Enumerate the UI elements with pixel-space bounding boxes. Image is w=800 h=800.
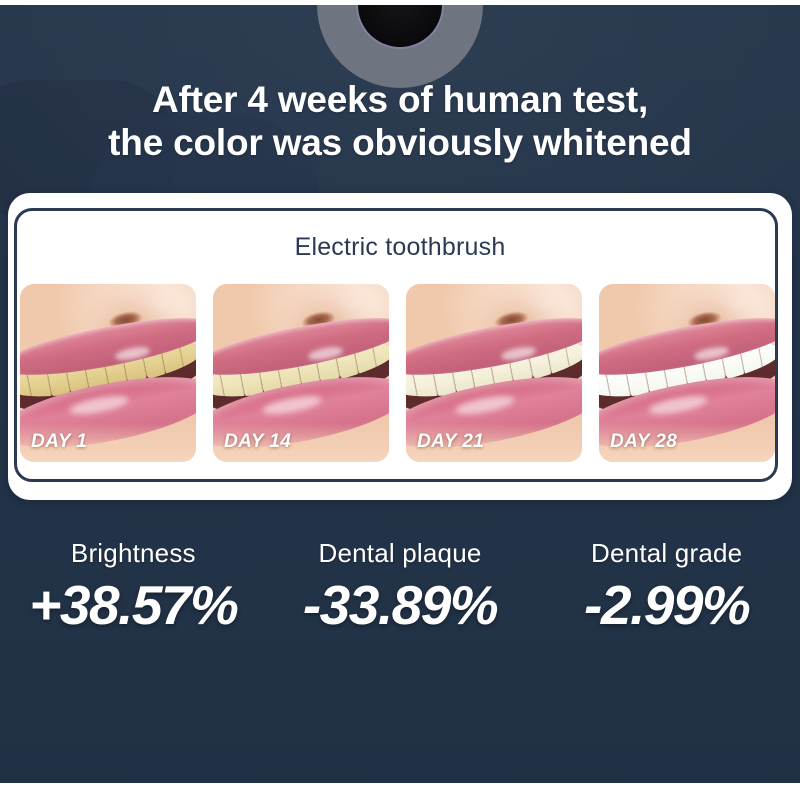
day-label: DAY 1 — [31, 431, 87, 453]
progress-photo-strip: DAY 1 DA — [20, 284, 780, 462]
dark-panel: After 4 weeks of human test, the color w… — [0, 5, 800, 783]
day-label: DAY 14 — [224, 431, 291, 453]
day-label: DAY 28 — [610, 431, 677, 453]
stat-label: Brightness — [0, 538, 267, 569]
progress-photo-day-21: DAY 21 — [406, 284, 582, 462]
card-title: Electric toothbrush — [0, 233, 800, 262]
page-title: After 4 weeks of human test, the color w… — [0, 78, 800, 164]
day-label: DAY 21 — [417, 431, 484, 453]
progress-photo-day-14: DAY 14 — [213, 284, 389, 462]
progress-photo-day-28: DAY 28 — [599, 284, 775, 462]
stats-row: Brightness +38.57% Dental plaque -33.89%… — [0, 538, 800, 634]
toothbrush-head-circle-icon — [317, 5, 483, 88]
headline-line-1: After 4 weeks of human test, — [0, 78, 800, 121]
promo-infographic: After 4 weeks of human test, the color w… — [0, 0, 800, 800]
stat-value: -2.99% — [533, 576, 800, 634]
stat-brightness: Brightness +38.57% — [0, 538, 267, 634]
stat-dental-grade: Dental grade -2.99% — [533, 538, 800, 634]
headline-line-2: the color was obviously whitened — [0, 121, 800, 164]
stat-label: Dental plaque — [267, 538, 534, 569]
stat-value: -33.89% — [267, 576, 534, 634]
stat-label: Dental grade — [533, 538, 800, 569]
stat-value: +38.57% — [0, 576, 267, 634]
progress-photo-day-1: DAY 1 — [20, 284, 196, 462]
stat-dental-plaque: Dental plaque -33.89% — [267, 538, 534, 634]
